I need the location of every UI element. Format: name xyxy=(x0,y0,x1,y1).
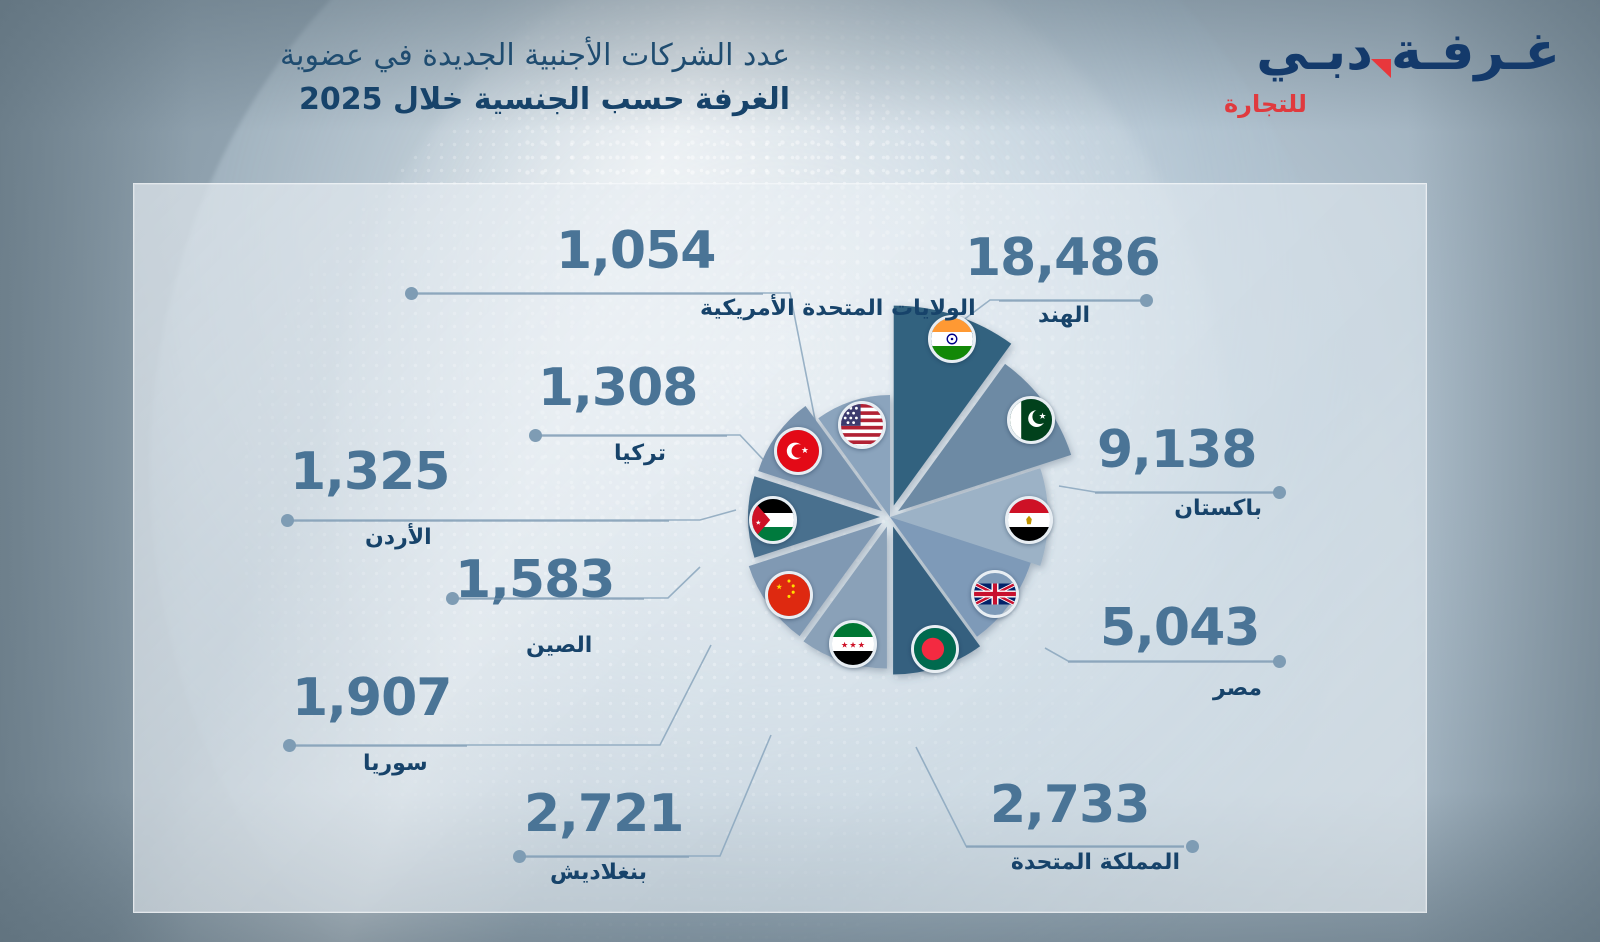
callout-value-egypt: 5,043 xyxy=(1100,602,1259,654)
callout-rule-india xyxy=(999,300,1147,302)
callout-rule-china xyxy=(452,598,644,600)
country-name-egypt: مصر xyxy=(962,678,1262,700)
callout-dot-china xyxy=(446,592,459,605)
country-name-syria: سوريا xyxy=(363,753,663,775)
callout-rule-uk xyxy=(966,846,1184,848)
page-title: عدد الشركات الأجنبية الجديدة في عضوية ال… xyxy=(110,36,790,119)
callout-dot-bangladesh xyxy=(513,850,526,863)
country-name-jordan: الأردن xyxy=(365,527,665,549)
country-name-bangladesh: بنغلاديش xyxy=(550,862,850,884)
callout-india: 18,486 xyxy=(965,232,1160,284)
callout-label-jordan: الأردن xyxy=(365,518,665,549)
callout-pakistan: 9,138 xyxy=(1097,424,1256,476)
callout-dot-india xyxy=(1140,294,1153,307)
callout-turkey: 1,308 xyxy=(538,362,697,414)
country-name-china: الصين xyxy=(526,635,826,657)
callout-rule-usa xyxy=(411,293,763,295)
callout-value-bangladesh: 2,721 xyxy=(524,788,683,840)
callout-value-turkey: 1,308 xyxy=(538,362,697,414)
callout-rule-jordan xyxy=(287,520,669,522)
callout-dot-syria xyxy=(283,739,296,752)
country-name-turkey: تركيا xyxy=(614,443,914,465)
country-name-usa: الولايات المتحدة الأمريكية xyxy=(700,298,1000,320)
callout-label-egypt: مصر xyxy=(962,669,1262,700)
country-name-pakistan: باكستان xyxy=(962,498,1262,520)
country-name-uk: المملكة المتحدة xyxy=(880,852,1180,874)
callout-syria: 1,907 xyxy=(292,672,451,724)
callout-rule-syria xyxy=(289,745,467,747)
callout-value-uk: 2,733 xyxy=(990,779,1149,831)
callout-label-turkey: تركيا xyxy=(614,434,914,465)
brand-subtitle: للتجارة xyxy=(1140,90,1560,118)
callout-rule-bangladesh xyxy=(519,856,689,858)
callout-dot-jordan xyxy=(281,514,294,527)
infographic-canvas: عدد الشركات الأجنبية الجديدة في عضوية ال… xyxy=(0,0,1600,942)
callout-dot-usa xyxy=(405,287,418,300)
callout-jordan: 1,325 xyxy=(290,446,449,498)
uk-flag xyxy=(971,570,1019,618)
callout-rule-turkey xyxy=(535,435,727,437)
callout-uk: 2,733 xyxy=(990,779,1149,831)
callout-rule-egypt xyxy=(1068,661,1280,663)
callout-dot-egypt xyxy=(1273,655,1286,668)
brand-name: غـرفـة دبـي xyxy=(1256,26,1560,78)
callout-dot-uk xyxy=(1186,840,1199,853)
callout-value-india: 18,486 xyxy=(965,232,1160,284)
syria-flag xyxy=(829,620,877,668)
callout-dot-turkey xyxy=(529,429,542,442)
callout-dot-pakistan xyxy=(1273,486,1286,499)
dubai-chamber-logo: غـرفـة دبـي للتجارة xyxy=(1140,26,1560,118)
callout-rule-pakistan xyxy=(1095,492,1280,494)
jordan-flag xyxy=(749,496,797,544)
bangladesh-flag xyxy=(911,625,959,673)
callout-value-syria: 1,907 xyxy=(292,672,451,724)
callout-value-pakistan: 9,138 xyxy=(1097,424,1256,476)
callout-bangladesh: 2,721 xyxy=(524,788,683,840)
pakistan-flag xyxy=(1007,396,1055,444)
callout-value-usa: 1,054 xyxy=(556,225,715,277)
callout-label-syria: سوريا xyxy=(363,744,663,775)
title-line-1: عدد الشركات الأجنبية الجديدة في عضوية xyxy=(110,36,790,76)
callout-egypt: 5,043 xyxy=(1100,602,1259,654)
callout-value-jordan: 1,325 xyxy=(290,446,449,498)
callout-label-china: الصين xyxy=(526,626,826,657)
title-line-2: الغرفة حسب الجنسية خلال 2025 xyxy=(110,80,790,120)
callout-usa: 1,054 xyxy=(556,225,715,277)
